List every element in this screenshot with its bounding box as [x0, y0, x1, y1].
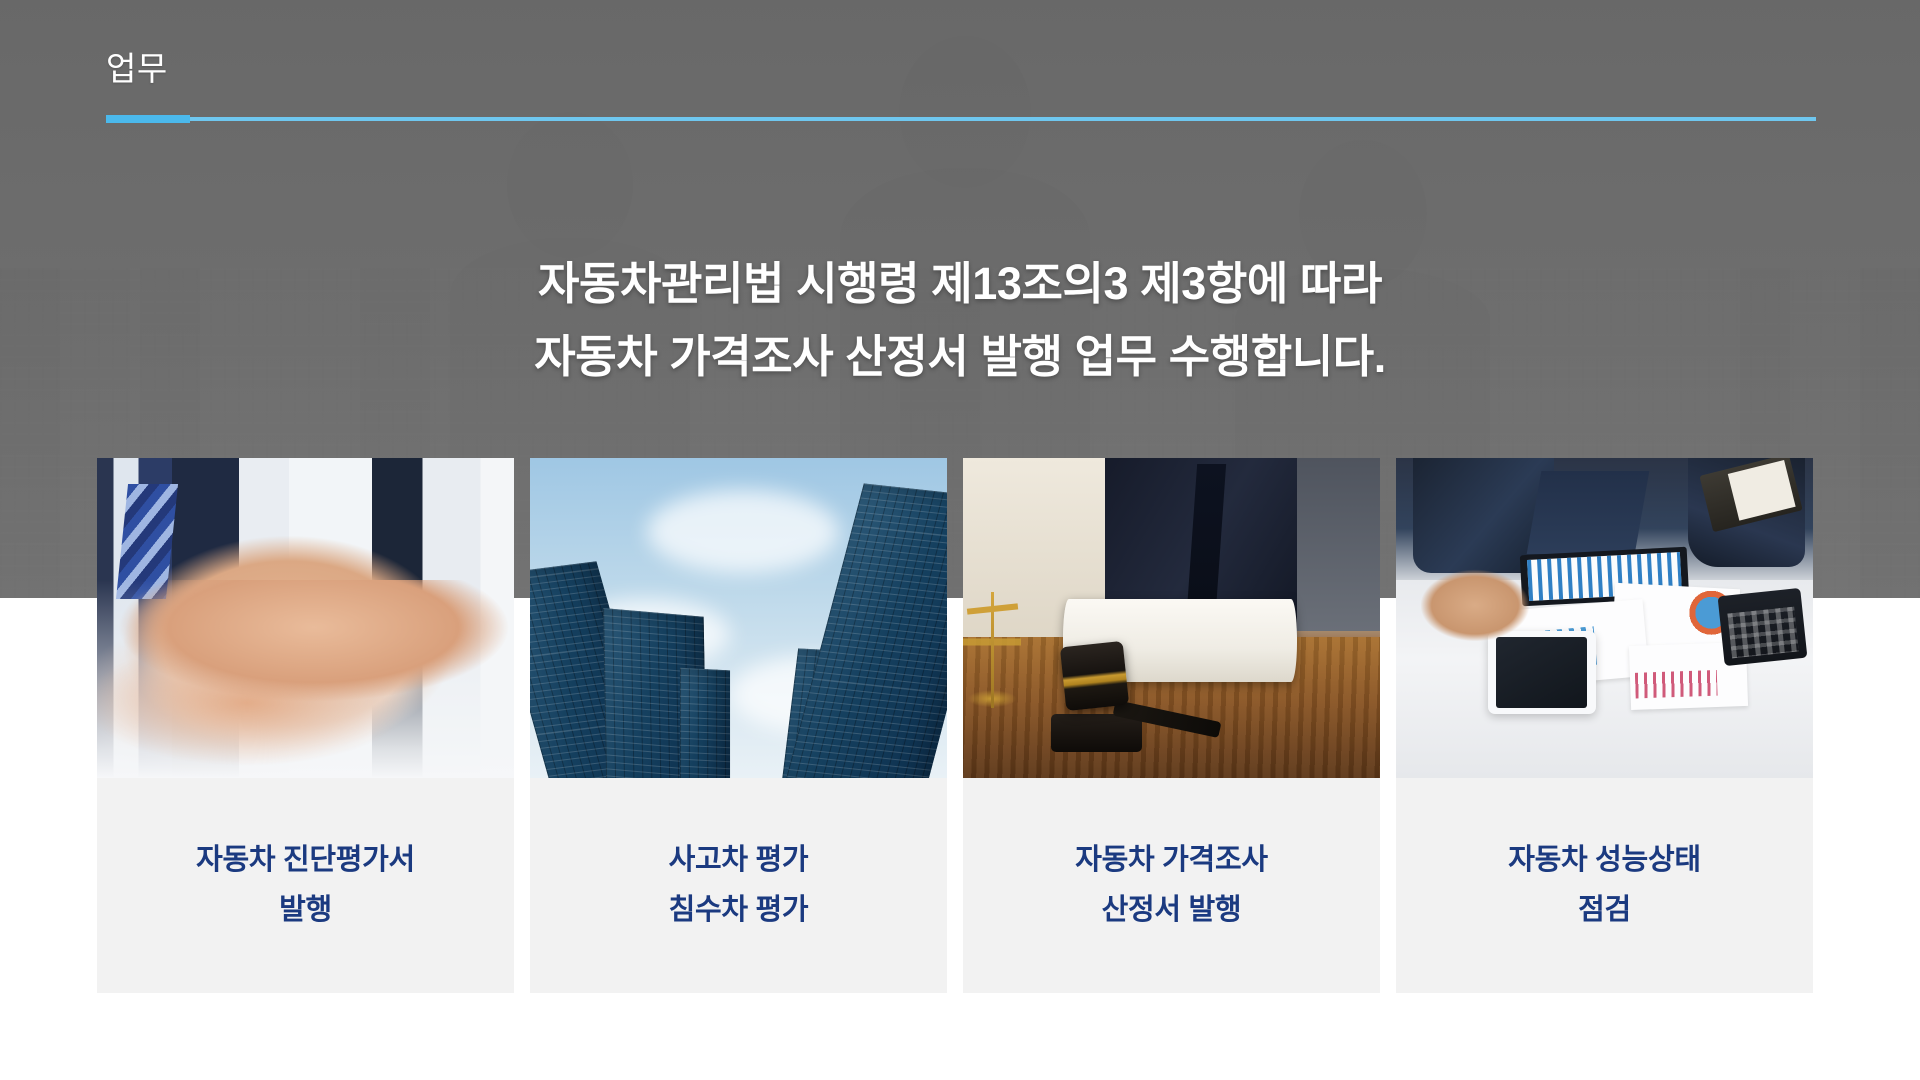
card-caption-line-1: 사고차 평가: [669, 845, 809, 877]
card-caption: 자동차 가격조사 산정서 발행: [963, 778, 1380, 993]
handshake-illustration: [97, 458, 514, 778]
gavel-illustration: [963, 458, 1380, 778]
section-divider-accent: [106, 115, 190, 123]
card-caption-line-1: 자동차 진단평가서: [196, 845, 415, 877]
card-caption: 사고차 평가 침수차 평가: [530, 778, 947, 993]
skyscrapers-illustration: [530, 458, 947, 778]
arm-shape: [1526, 471, 1649, 554]
card-caption-line-2: 침수차 평가: [669, 895, 809, 927]
headline-line-1: 자동차관리법 시행령 제13조의3 제3항에 따라: [0, 248, 1920, 321]
gavel-consultation-photo: [963, 458, 1380, 778]
service-card[interactable]: 자동차 가격조사 산정서 발행: [963, 458, 1380, 993]
gavel-base-shape: [1051, 714, 1143, 752]
gavel-head-shape: [1060, 641, 1129, 711]
card-caption-line-1: 자동차 성능상태: [1508, 845, 1700, 877]
card-caption: 자동차 진단평가서 발행: [97, 778, 514, 993]
skyscrapers-photo: [530, 458, 947, 778]
card-caption-line-2: 발행: [279, 895, 332, 927]
hero-headline: 자동차관리법 시행령 제13조의3 제3항에 따라 자동차 가격조사 산정서 발…: [0, 248, 1920, 394]
service-card[interactable]: 사고차 평가 침수차 평가: [530, 458, 947, 993]
headline-line-2: 자동차 가격조사 산정서 발행 업무 수행합니다.: [0, 321, 1920, 394]
page-root: 업무 자동차관리법 시행령 제13조의3 제3항에 따라 자동차 가격조사 산정…: [0, 0, 1920, 1080]
calculator-shape: [1718, 588, 1808, 667]
scales-of-justice-icon: [963, 592, 1021, 707]
card-caption-line-2: 점검: [1578, 895, 1631, 927]
section-label: 업무: [106, 52, 168, 85]
section-divider-line: [106, 117, 1816, 121]
card-caption: 자동차 성능상태 점검: [1396, 778, 1813, 993]
service-card[interactable]: 자동차 진단평가서 발행: [97, 458, 514, 993]
card-caption-line-2: 산정서 발행: [1102, 895, 1242, 927]
card-caption-line-1: 자동차 가격조사: [1075, 845, 1267, 877]
service-card[interactable]: 자동차 성능상태 점검: [1396, 458, 1813, 993]
service-card-list: 자동차 진단평가서 발행 사고차 평가 침수차 평가: [97, 458, 1823, 993]
hand-shape: [1421, 567, 1529, 663]
window-shape: [1297, 458, 1380, 631]
cloud-shape: [647, 490, 839, 573]
data-analysis-photo: [1396, 458, 1813, 778]
tower-shape: [680, 668, 730, 778]
data-analysis-illustration: [1396, 458, 1813, 778]
handshake-photo: [97, 458, 514, 778]
